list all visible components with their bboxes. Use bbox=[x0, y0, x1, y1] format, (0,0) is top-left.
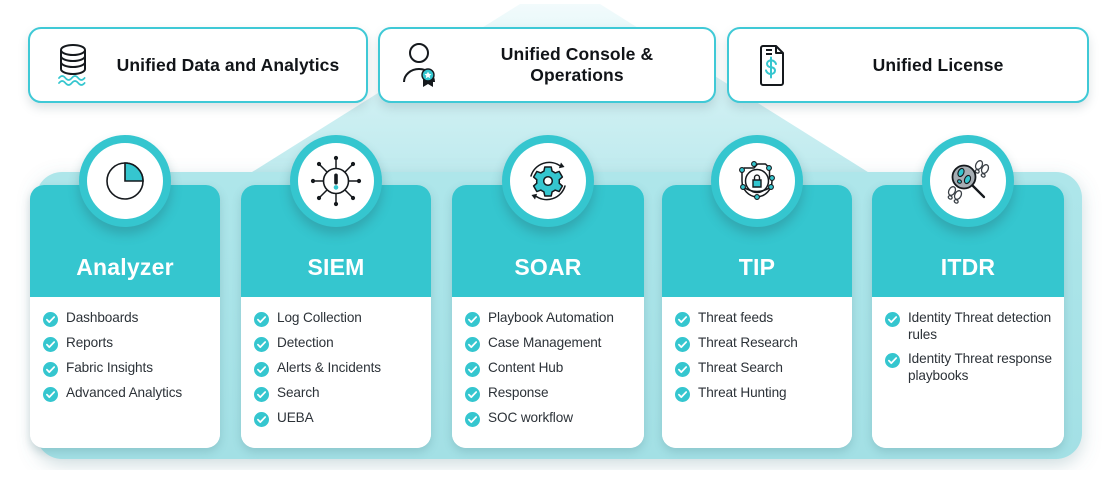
feature-label: UEBA bbox=[277, 410, 314, 427]
feature-label: Content Hub bbox=[488, 360, 563, 377]
feature-label: Identity Threat detection rules bbox=[908, 310, 1054, 343]
feature-label: SOC workflow bbox=[488, 410, 573, 427]
magnifier-footprints-icon bbox=[941, 154, 995, 208]
list-item[interactable]: Alerts & Incidents bbox=[254, 360, 421, 377]
list-item[interactable]: Case Management bbox=[465, 335, 634, 352]
shield-lock-network-icon bbox=[730, 154, 784, 208]
feature-label: Threat Search bbox=[698, 360, 783, 377]
list-item[interactable]: Search bbox=[254, 385, 421, 402]
list-item[interactable]: Threat feeds bbox=[675, 310, 842, 327]
check-circle-icon bbox=[675, 337, 690, 352]
medallion-itdr bbox=[922, 135, 1014, 227]
check-circle-icon bbox=[254, 387, 269, 402]
card-title: TIP bbox=[739, 254, 775, 281]
feature-label: Advanced Analytics bbox=[66, 385, 182, 402]
list-item[interactable]: Threat Search bbox=[675, 360, 842, 377]
feature-label: Search bbox=[277, 385, 319, 402]
card-title: SIEM bbox=[307, 254, 364, 281]
check-circle-icon bbox=[465, 312, 480, 327]
list-item[interactable]: UEBA bbox=[254, 410, 421, 427]
pie-chart-icon bbox=[100, 156, 150, 206]
medallion-tip bbox=[711, 135, 803, 227]
feature-label: Case Management bbox=[488, 335, 601, 352]
feature-label: Identity Threat response playbooks bbox=[908, 351, 1054, 384]
check-circle-icon bbox=[43, 362, 58, 377]
card-feature-list: Threat feeds Threat Research Threat Sear… bbox=[662, 297, 852, 448]
check-circle-icon bbox=[675, 387, 690, 402]
check-circle-icon bbox=[675, 312, 690, 327]
card-feature-list: Log Collection Detection Alerts & Incide… bbox=[241, 297, 431, 448]
check-circle-icon bbox=[465, 387, 480, 402]
diagram-canvas: Unified Data and Analytics Unified Conso… bbox=[0, 0, 1117, 500]
list-item[interactable]: Threat Research bbox=[675, 335, 842, 352]
check-circle-icon bbox=[43, 387, 58, 402]
list-item[interactable]: Detection bbox=[254, 335, 421, 352]
card-title: ITDR bbox=[941, 254, 995, 281]
check-circle-icon bbox=[254, 337, 269, 352]
medallion-soar bbox=[502, 135, 594, 227]
list-item[interactable]: Fabric Insights bbox=[43, 360, 210, 377]
list-item[interactable]: Content Hub bbox=[465, 360, 634, 377]
feature-label: Detection bbox=[277, 335, 334, 352]
list-item[interactable]: Identity Threat response playbooks bbox=[885, 351, 1054, 384]
check-circle-icon bbox=[43, 337, 58, 352]
list-item[interactable]: Identity Threat detection rules bbox=[885, 310, 1054, 343]
feature-label: Threat feeds bbox=[698, 310, 773, 327]
feature-label: Threat Research bbox=[698, 335, 798, 352]
check-circle-icon bbox=[254, 362, 269, 377]
check-circle-icon bbox=[43, 312, 58, 327]
feature-label: Playbook Automation bbox=[488, 310, 614, 327]
medallion-analyzer bbox=[79, 135, 171, 227]
check-circle-icon bbox=[885, 312, 900, 327]
list-item[interactable]: Response bbox=[465, 385, 634, 402]
feature-label: Reports bbox=[66, 335, 113, 352]
check-circle-icon bbox=[465, 412, 480, 427]
card-feature-list: Playbook Automation Case Management Cont… bbox=[452, 297, 644, 448]
card-title: Analyzer bbox=[76, 254, 173, 281]
check-circle-icon bbox=[675, 362, 690, 377]
feature-label: Alerts & Incidents bbox=[277, 360, 381, 377]
list-item[interactable]: Playbook Automation bbox=[465, 310, 634, 327]
check-circle-icon bbox=[885, 353, 900, 368]
check-circle-icon bbox=[465, 337, 480, 352]
list-item[interactable]: Log Collection bbox=[254, 310, 421, 327]
card-title: SOAR bbox=[514, 254, 581, 281]
list-item[interactable]: Dashboards bbox=[43, 310, 210, 327]
feature-label: Response bbox=[488, 385, 548, 402]
check-circle-icon bbox=[254, 412, 269, 427]
feature-label: Log Collection bbox=[277, 310, 362, 327]
feature-label: Dashboards bbox=[66, 310, 138, 327]
card-feature-list: Dashboards Reports Fabric Insights Advan… bbox=[30, 297, 220, 448]
pillar-cards: Analyzer Dashboards Reports Fabric Insig… bbox=[0, 0, 1117, 470]
card-feature-list: Identity Threat detection rules Identity… bbox=[872, 297, 1064, 448]
list-item[interactable]: Reports bbox=[43, 335, 210, 352]
feature-label: Threat Hunting bbox=[698, 385, 787, 402]
list-item[interactable]: Threat Hunting bbox=[675, 385, 842, 402]
gear-cycle-icon bbox=[521, 154, 575, 208]
check-circle-icon bbox=[465, 362, 480, 377]
medallion-siem bbox=[290, 135, 382, 227]
list-item[interactable]: SOC workflow bbox=[465, 410, 634, 427]
check-circle-icon bbox=[254, 312, 269, 327]
alert-radial-icon bbox=[309, 154, 363, 208]
feature-label: Fabric Insights bbox=[66, 360, 153, 377]
list-item[interactable]: Advanced Analytics bbox=[43, 385, 210, 402]
